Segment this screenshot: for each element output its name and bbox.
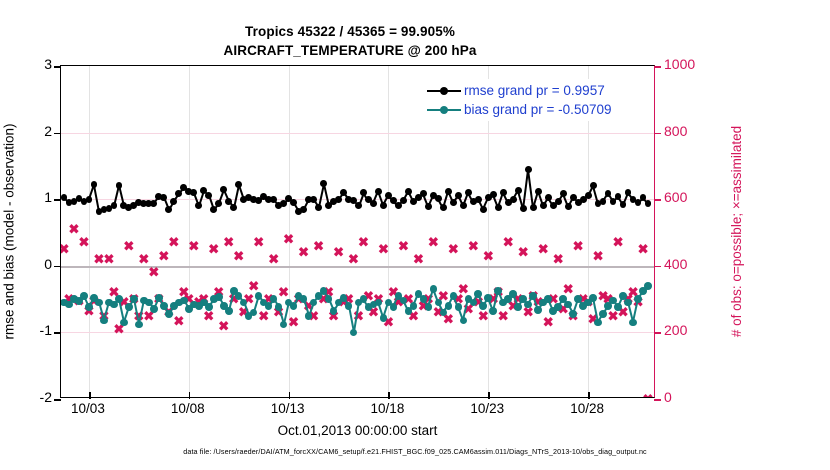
- chart-legend: rmse grand pr = 0.9957bias grand pr = -0…: [424, 79, 616, 121]
- rmse-data-point: [450, 199, 457, 206]
- rmse-data-point: [170, 198, 177, 205]
- obs-assimilated-marker: ✖: [638, 243, 649, 256]
- x-axis-tick-label: 10/23: [470, 401, 504, 416]
- rmse-data-point: [540, 202, 547, 209]
- bias-data-point: [85, 303, 93, 311]
- obs-assimilated-marker: ✖: [233, 249, 244, 262]
- legend-marker-icon: [427, 104, 461, 116]
- obs-assimilated-marker: ✖: [428, 236, 439, 249]
- rmse-data-point: [380, 202, 387, 209]
- rmse-data-point: [235, 181, 242, 188]
- y-axis-left-tick-label: -1: [8, 322, 52, 338]
- bias-data-point: [345, 302, 353, 310]
- bias-data-point: [554, 303, 562, 311]
- rmse-data-point: [405, 188, 412, 195]
- bias-data-point: [115, 295, 123, 303]
- obs-assimilated-marker: ✖: [468, 239, 479, 252]
- bias-data-point: [614, 303, 622, 311]
- x-axis-tick-label: 10/03: [71, 401, 105, 416]
- bias-data-point: [380, 314, 388, 322]
- bias-data-point: [95, 299, 103, 307]
- bias-data-point: [564, 301, 572, 309]
- x-axis-title: Oct.01,2013 00:00:00 start: [60, 423, 655, 438]
- rmse-data-point: [111, 202, 118, 209]
- rmse-data-point: [590, 182, 597, 189]
- y-gridline-right: [61, 133, 654, 134]
- obs-assimilated-marker: ✖: [258, 309, 269, 322]
- observation-diagnostics-figure: Tropics 45322 / 45365 = 99.905% AIRCRAFT…: [0, 0, 830, 470]
- y-axis-right-tick: [654, 133, 661, 135]
- rmse-data-point: [320, 180, 327, 187]
- obs-assimilated-marker: ✖: [138, 253, 149, 266]
- y-axis-right-tick: [654, 266, 661, 268]
- rmse-data-point: [555, 198, 562, 205]
- rmse-data-point: [605, 190, 612, 197]
- legend-marker-icon: [427, 85, 461, 97]
- rmse-data-point: [116, 182, 123, 189]
- rmse-data-point: [375, 188, 382, 195]
- x-axis-tick: [289, 392, 291, 399]
- rmse-data-point: [530, 204, 537, 211]
- rmse-data-point: [160, 194, 167, 201]
- rmse-data-point: [315, 204, 322, 211]
- obs-assimilated-marker: ✖: [103, 253, 114, 266]
- x-axis-tick-label: 10/13: [271, 401, 305, 416]
- bias-data-point: [634, 295, 642, 303]
- bias-data-point: [494, 287, 502, 295]
- rmse-data-point: [230, 204, 237, 211]
- legend-item[interactable]: bias grand pr = -0.50709: [427, 101, 611, 118]
- bias-data-point: [305, 312, 313, 320]
- bias-data-point: [410, 302, 418, 310]
- x-axis-tick: [488, 392, 490, 399]
- y-axis-left-tick-label: 0: [8, 256, 52, 272]
- bias-data-point: [445, 302, 453, 310]
- bias-data-point: [455, 303, 463, 311]
- bias-data-point: [390, 303, 398, 311]
- rmse-data-point: [475, 196, 482, 203]
- rmse-data-point: [86, 196, 93, 203]
- chart-title: Tropics 45322 / 45365 = 99.905% AIRCRAFT…: [0, 22, 700, 60]
- bias-data-point: [544, 295, 552, 303]
- bias-data-point: [450, 292, 458, 300]
- bias-data-point: [290, 302, 298, 310]
- bias-data-point: [100, 317, 108, 325]
- y-axis-right-tick: [654, 399, 661, 401]
- rmse-data-point: [525, 166, 532, 173]
- rmse-data-point: [290, 199, 297, 206]
- rmse-data-point: [465, 189, 472, 196]
- rmse-data-point: [195, 202, 202, 209]
- obs-assimilated-marker: ✖: [478, 309, 489, 322]
- y-axis-right-tick: [654, 332, 661, 334]
- y-axis-right-tick-label: 0: [664, 389, 712, 405]
- obs-assimilated-marker: ✖: [248, 279, 259, 292]
- rmse-data-point: [400, 197, 407, 204]
- legend-dot-icon: [440, 106, 448, 114]
- rmse-data-point: [560, 190, 567, 197]
- rmse-data-point: [355, 202, 362, 209]
- bias-data-point: [310, 299, 318, 307]
- rmse-data-point: [210, 206, 217, 213]
- y-axis-left-tick-label: 1: [8, 189, 52, 205]
- bias-data-point: [215, 293, 223, 301]
- rmse-data-point: [335, 196, 342, 203]
- obs-assimilated-marker: ✖: [573, 239, 584, 252]
- rmse-data-point: [435, 195, 442, 202]
- bias-data-point: [165, 310, 173, 318]
- obs-assimilated-marker: ✖: [278, 286, 289, 299]
- rmse-data-point: [370, 200, 377, 207]
- obs-assimilated-marker: ✖: [158, 249, 169, 262]
- legend-label: bias grand pr = -0.50709: [464, 102, 611, 117]
- bias-data-point: [509, 290, 517, 298]
- rmse-data-point: [440, 204, 447, 211]
- rmse-data-point: [500, 189, 507, 196]
- bias-data-point: [160, 302, 168, 310]
- y-axis-left-tick: [54, 133, 61, 135]
- bias-data-point: [80, 292, 88, 300]
- rmse-data-point: [215, 200, 222, 207]
- rmse-data-point: [360, 189, 367, 196]
- obs-assimilated-marker: ✖: [593, 249, 604, 262]
- bias-data-point: [569, 310, 577, 318]
- bias-data-point: [479, 302, 487, 310]
- obs-assimilated-marker: ✖: [253, 236, 264, 249]
- x-axis-tick: [189, 392, 191, 399]
- bias-data-point: [624, 299, 632, 307]
- rmse-data-point: [480, 206, 487, 213]
- y-axis-right-tick-label: 400: [664, 256, 712, 272]
- obs-assimilated-marker: ✖: [288, 316, 299, 329]
- y-axis-left-title: rmse and bias (model - observation): [0, 65, 20, 398]
- y-axis-left-tick-label: 3: [8, 56, 52, 72]
- legend-dot-icon: [440, 87, 448, 95]
- bias-data-point: [599, 310, 607, 318]
- obs-assimilated-marker: ✖: [613, 236, 624, 249]
- rmse-data-point: [535, 188, 542, 195]
- obs-assimilated-marker: ✖: [413, 253, 424, 266]
- y-axis-right-tick: [654, 199, 661, 201]
- rmse-data-point: [340, 189, 347, 196]
- bias-data-point: [425, 303, 433, 311]
- rmse-data-point: [460, 202, 467, 209]
- title-line-2: AIRCRAFT_TEMPERATURE @ 200 hPa: [0, 41, 700, 60]
- obs-assimilated-marker: ✖: [643, 393, 654, 398]
- obs-assimilated-marker: ✖: [518, 246, 529, 259]
- bias-data-point: [594, 319, 602, 327]
- bias-data-point: [225, 307, 233, 315]
- rmse-data-point: [445, 188, 452, 195]
- bias-data-point: [524, 301, 532, 309]
- rmse-data-point: [510, 196, 517, 203]
- rmse-data-point: [600, 198, 607, 205]
- y-axis-left-tick: [54, 399, 61, 401]
- rmse-data-point: [585, 192, 592, 199]
- rmse-data-point: [520, 205, 527, 212]
- bias-data-point: [155, 294, 163, 302]
- y-gridline-right: [61, 332, 654, 333]
- x-axis-tick-label: 10/08: [171, 401, 205, 416]
- data-file-footer: data file: /Users/raeder/DAI/ATM_forcXX/…: [0, 447, 830, 456]
- y-axis-right-tick-label: 800: [664, 123, 712, 139]
- y-axis-left-tick-label: -2: [8, 389, 52, 405]
- rmse-data-point: [300, 206, 307, 213]
- x-axis-tick: [388, 392, 390, 399]
- x-axis-tick-label: 10/18: [371, 401, 405, 416]
- y-axis-left-tick: [54, 66, 61, 68]
- rmse-data-point: [205, 192, 212, 199]
- bias-data-point: [484, 294, 492, 302]
- rmse-data-point: [565, 203, 572, 210]
- y-axis-right-tick-label: 1000: [664, 56, 712, 72]
- y-axis-right-tick-label: 600: [664, 189, 712, 205]
- bias-data-point: [474, 290, 482, 298]
- obs-assimilated-marker: ✖: [333, 246, 344, 259]
- obs-assimilated-marker: ✖: [563, 283, 574, 296]
- obs-assimilated-marker: ✖: [203, 309, 214, 322]
- bias-data-point: [265, 302, 273, 310]
- rmse-data-point: [620, 201, 627, 208]
- obs-assimilated-marker: ✖: [448, 243, 459, 256]
- obs-assimilated-marker: ✖: [168, 236, 179, 249]
- rmse-data-point: [645, 200, 652, 207]
- bias-data-point: [360, 295, 368, 303]
- obs-assimilated-marker: ✖: [458, 283, 469, 296]
- bias-data-point: [350, 329, 358, 337]
- obs-assimilated-marker: ✖: [173, 314, 184, 327]
- rmse-data-point: [495, 204, 502, 211]
- bias-data-point: [150, 305, 158, 313]
- bias-data-point: [489, 307, 497, 315]
- rmse-data-point: [515, 187, 522, 194]
- x-axis-tick: [89, 392, 91, 399]
- bias-data-point: [644, 282, 652, 290]
- x-axis-tick: [588, 392, 590, 399]
- obs-assimilated-marker: ✖: [358, 236, 369, 249]
- bias-data-point: [205, 303, 213, 311]
- y-axis-right-tick-label: 200: [664, 322, 712, 338]
- bias-data-point: [135, 321, 143, 329]
- y-axis-left-title-text: rmse and bias (model - observation): [2, 123, 17, 339]
- bias-data-point: [514, 303, 522, 311]
- y-axis-left-tick: [54, 332, 61, 334]
- y-axis-left-tick: [54, 199, 61, 201]
- bias-data-point: [460, 317, 468, 325]
- title-line-1: Tropics 45322 / 45365 = 99.905%: [0, 22, 700, 41]
- rmse-data-point: [165, 206, 172, 213]
- rmse-data-point: [420, 190, 427, 197]
- obs-assimilated-marker: ✖: [79, 236, 90, 249]
- legend-item[interactable]: rmse grand pr = 0.9957: [427, 82, 611, 99]
- obs-assimilated-marker: ✖: [188, 239, 199, 252]
- x-axis-tick-label: 10/28: [570, 401, 604, 416]
- rmse-data-point: [91, 181, 98, 188]
- obs-assimilated-marker: ✖: [298, 246, 309, 259]
- obs-assimilated-marker: ✖: [398, 239, 409, 252]
- obs-assimilated-marker: ✖: [283, 233, 294, 246]
- obs-assimilated-marker: ✖: [208, 243, 219, 256]
- obs-assimilated-marker: ✖: [553, 253, 564, 266]
- obs-assimilated-marker: ✖: [148, 266, 159, 279]
- obs-assimilated-marker: ✖: [378, 243, 389, 256]
- rmse-data-point: [175, 190, 182, 197]
- rmse-data-point: [490, 191, 497, 198]
- bias-data-point: [420, 295, 428, 303]
- rmse-data-point: [150, 200, 157, 207]
- obs-assimilated-marker: ✖: [538, 243, 549, 256]
- bias-data-point: [120, 319, 128, 327]
- rmse-data-point: [545, 194, 552, 201]
- rmse-data-point: [455, 192, 462, 199]
- bias-data-point: [180, 297, 188, 305]
- obs-assimilated-marker: ✖: [268, 253, 279, 266]
- bias-data-point: [125, 303, 133, 311]
- bias-data-point: [589, 294, 597, 302]
- y-axis-right-tick: [654, 66, 661, 68]
- bias-data-point: [529, 292, 537, 300]
- y-axis-right-title-text: # of obs: o=possible; ×=assimilated: [730, 126, 745, 337]
- legend-label: rmse grand pr = 0.9957: [464, 83, 605, 98]
- obs-assimilated-marker: ✖: [313, 239, 324, 252]
- x-gridline: [89, 66, 90, 397]
- obs-assimilated-marker: ✖: [348, 253, 359, 266]
- bias-data-point: [250, 309, 258, 317]
- obs-assimilated-marker: ✖: [69, 223, 80, 236]
- obs-assimilated-marker: ✖: [543, 316, 554, 329]
- bias-data-point: [340, 294, 348, 302]
- obs-assimilated-marker: ✖: [223, 236, 234, 249]
- x-gridline: [388, 66, 389, 397]
- rmse-data-point: [425, 203, 432, 210]
- bias-data-point: [534, 306, 542, 314]
- y-axis-left-tick: [54, 266, 61, 268]
- rmse-data-point: [190, 189, 197, 196]
- bias-data-point: [430, 285, 438, 293]
- x-gridline: [189, 66, 190, 397]
- obs-assimilated-marker: ✖: [61, 243, 69, 256]
- bias-data-point: [629, 319, 637, 327]
- obs-assimilated-marker: ✖: [483, 249, 494, 262]
- y-axis-right-title: # of obs: o=possible; ×=assimilated: [726, 65, 748, 398]
- bias-data-point: [130, 295, 138, 303]
- y-axis-left-tick-label: 2: [8, 123, 52, 139]
- obs-assimilated-marker: ✖: [503, 236, 514, 249]
- bias-data-point: [280, 321, 288, 329]
- obs-assimilated-marker: ✖: [123, 239, 134, 252]
- bias-data-point: [330, 307, 338, 315]
- obs-assimilated-marker: ✖: [218, 319, 229, 332]
